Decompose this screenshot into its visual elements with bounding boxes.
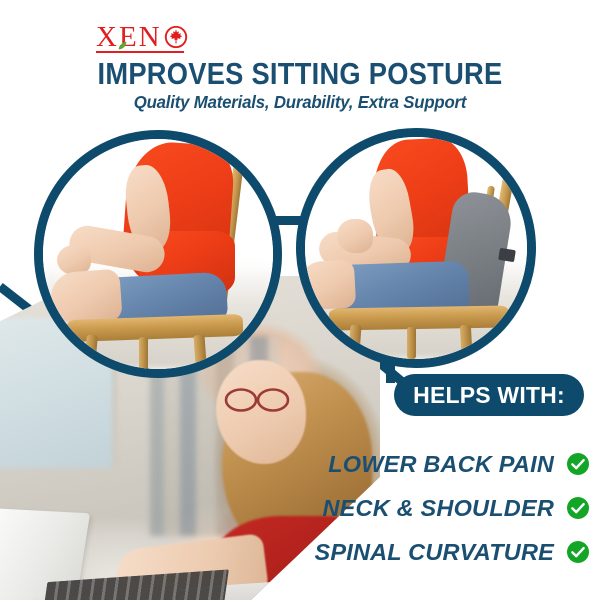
check-circle-icon [566, 540, 590, 564]
page-title: IMPROVES SITTING POSTURE [36, 56, 564, 92]
benefit-label: LOWER BACK PAIN [328, 451, 554, 478]
chair-leg [407, 327, 416, 359]
eyeglasses-icon [224, 388, 290, 412]
check-circle-icon [566, 452, 590, 476]
hand [337, 219, 373, 253]
list-item: LOWER BACK PAIN [250, 442, 590, 486]
poster-canvas: XEN IMPROVES SITTING POSTURE Quality Mat… [0, 0, 600, 600]
benefits-list: LOWER BACK PAIN NECK & SHOULDER SPINAL C… [250, 442, 590, 574]
maple-leaf-icon [164, 25, 188, 49]
page-subtitle: Quality Materials, Durability, Extra Sup… [12, 92, 588, 113]
brand-underline [96, 51, 184, 53]
thigh [49, 269, 122, 326]
check-circle-icon [566, 496, 590, 520]
thigh [298, 260, 356, 311]
benefit-label: SPINAL CURVATURE [314, 539, 554, 566]
benefit-label: NECK & SHOULDER [323, 495, 554, 522]
chair-leg [460, 325, 473, 368]
leaf-accent-icon [118, 37, 127, 46]
brand-name: XEN [96, 23, 162, 52]
chair-leg [139, 337, 148, 371]
supported-posture-photo [296, 128, 536, 368]
helps-with-badge: HELPS WITH: [394, 374, 584, 416]
cushion-strap [498, 248, 516, 262]
brand-logo: XEN [96, 22, 188, 52]
list-item: SPINAL CURVATURE [250, 530, 590, 574]
slouched-posture-photo [34, 130, 282, 378]
helps-with-label: HELPS WITH: [413, 382, 565, 409]
list-item: NECK & SHOULDER [250, 486, 590, 530]
